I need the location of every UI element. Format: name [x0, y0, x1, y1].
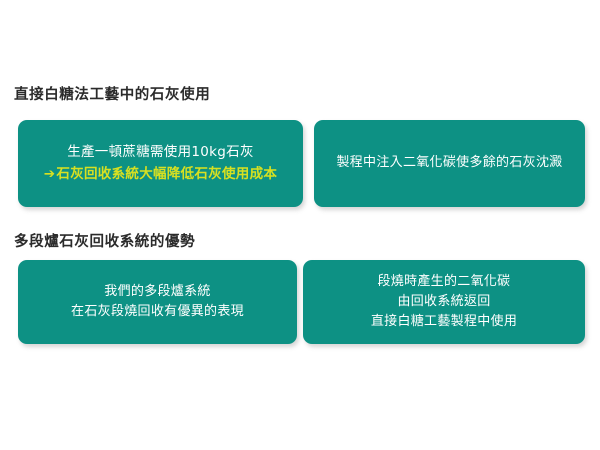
card-co2-return[interactable]: 段燒時產生的二氧化碳 由回收系統返回 直接白糖工藝製程中使用: [303, 260, 585, 344]
card-co2-injection-text: 製程中注入二氧化碳使多餘的石灰沈澱: [322, 153, 577, 174]
card-lime-consumption[interactable]: 生產一頓蔗糖需使用10kg石灰 ➔石灰回收系統大幅降低石灰使用成本: [18, 120, 303, 207]
card-line: 段燒時產生的二氧化碳: [311, 272, 577, 292]
card-line-highlighted-label: 石灰回收系統大幅降低石灰使用成本: [56, 166, 277, 182]
card-co2-return-text: 段燒時產生的二氧化碳 由回收系統返回 直接白糖工藝製程中使用: [311, 272, 577, 332]
section-heading-multi-hearth-advantages: 多段爐石灰回收系統的優勢: [14, 235, 195, 250]
card-multi-hearth-performance-text: 我們的多段爐系統 在石灰段燒回收有優異的表現: [26, 282, 289, 322]
card-co2-injection[interactable]: 製程中注入二氧化碳使多餘的石灰沈澱: [314, 120, 585, 207]
arrow-right-icon: ➔: [44, 164, 56, 185]
card-line: 我們的多段爐系統: [26, 282, 289, 302]
card-line: 直接白糖工藝製程中使用: [311, 312, 577, 332]
card-multi-hearth-performance[interactable]: 我們的多段爐系統 在石灰段燒回收有優異的表現: [18, 260, 297, 344]
card-line: 製程中注入二氧化碳使多餘的石灰沈澱: [322, 153, 577, 174]
card-line-highlighted: ➔石灰回收系統大幅降低石灰使用成本: [26, 164, 295, 185]
card-row-advantages: 我們的多段爐系統 在石灰段燒回收有優異的表現 段燒時產生的二氧化碳 由回收系統返…: [18, 260, 585, 344]
card-lime-consumption-text: 生產一頓蔗糖需使用10kg石灰 ➔石灰回收系統大幅降低石灰使用成本: [26, 142, 295, 185]
section-heading-lime-usage: 直接白糖法工藝中的石灰使用: [14, 88, 210, 103]
card-row-lime-usage: 生產一頓蔗糖需使用10kg石灰 ➔石灰回收系統大幅降低石灰使用成本 製程中注入二…: [18, 120, 585, 207]
card-line: 生產一頓蔗糖需使用10kg石灰: [26, 142, 295, 163]
card-line: 在石灰段燒回收有優異的表現: [26, 302, 289, 322]
card-line: 由回收系統返回: [311, 292, 577, 312]
slide-canvas: 直接白糖法工藝中的石灰使用 生產一頓蔗糖需使用10kg石灰 ➔石灰回收系統大幅降…: [0, 0, 600, 450]
